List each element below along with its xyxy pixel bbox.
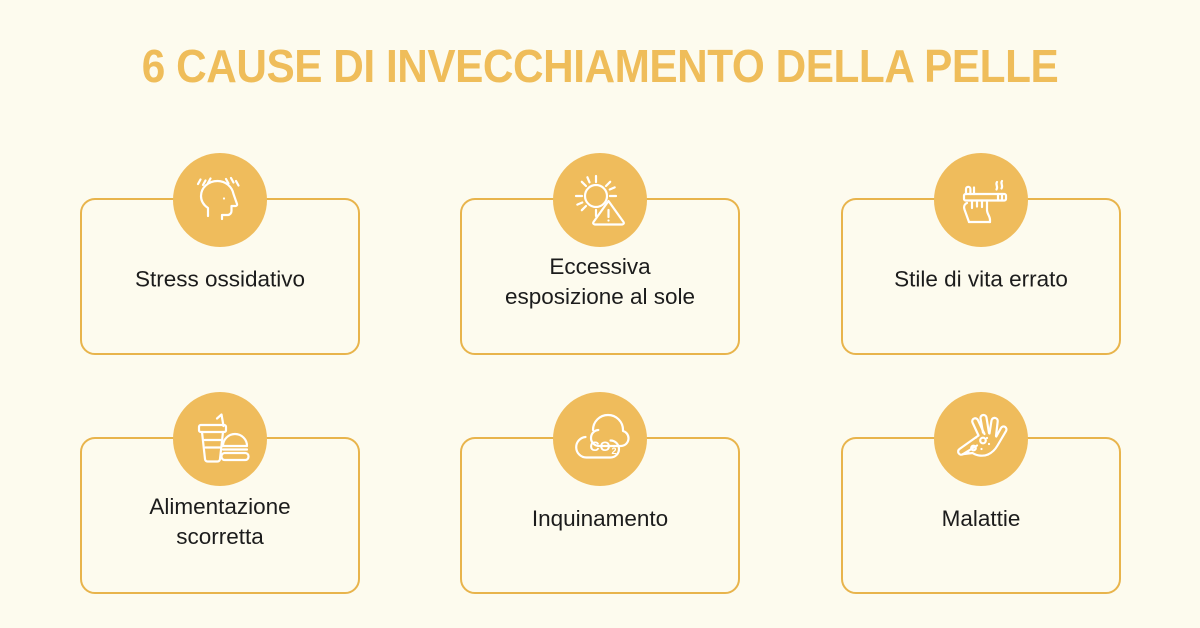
cause-card-eccessiva-esposizione-al-sole[interactable]: Eccessiva esposizione al sole xyxy=(460,198,740,355)
cause-card-inquinamento[interactable]: CO 2 Inquinamento xyxy=(460,437,740,594)
cause-card-stile-di-vita-errato[interactable]: Stile di vita errato xyxy=(841,198,1121,355)
co2-cloud-icon: CO 2 xyxy=(553,392,647,486)
card-label: Eccessiva esposizione al sole xyxy=(472,251,728,311)
stressed-head-icon xyxy=(173,153,267,247)
page-title: 6 CAUSE DI INVECCHIAMENTO DELLA PELLE xyxy=(48,38,1152,94)
card-label: Inquinamento xyxy=(472,504,728,534)
spotted-hand-icon xyxy=(934,392,1028,486)
sun-warning-icon xyxy=(553,153,647,247)
card-label: Stile di vita errato xyxy=(853,264,1109,294)
svg-text:CO: CO xyxy=(590,438,611,454)
card-label: Alimentazione scorretta xyxy=(92,492,348,552)
svg-text:2: 2 xyxy=(611,446,616,456)
junk-food-icon xyxy=(173,392,267,486)
cause-card-malattie[interactable]: Malattie xyxy=(841,437,1121,594)
hand-cigarette-icon xyxy=(934,153,1028,247)
causes-grid: Stress ossidativo Eccessiva esposizione … xyxy=(80,198,1121,594)
cause-card-stress-ossidativo[interactable]: Stress ossidativo xyxy=(80,198,360,355)
card-label: Stress ossidativo xyxy=(92,264,348,294)
cause-card-alimentazione-scorretta[interactable]: Alimentazione scorretta xyxy=(80,437,360,594)
card-label: Malattie xyxy=(853,504,1109,534)
